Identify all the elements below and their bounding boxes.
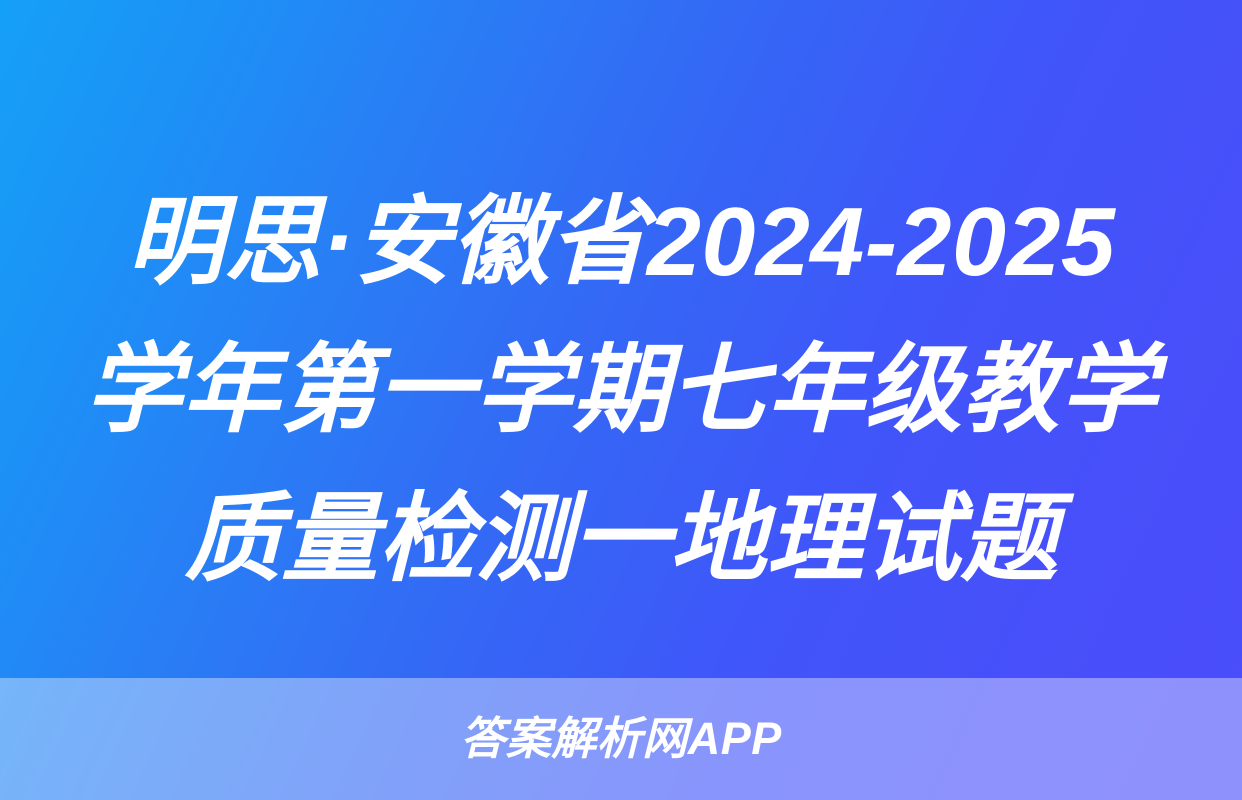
title-block: 明思·安徽省2024-2025 学年第一学期七年级教学 质量检测一地理试题 (0, 168, 1242, 613)
title-line-1: 明思·安徽省2024-2025 (60, 168, 1182, 316)
exam-cover-card: 明思·安徽省2024-2025 学年第一学期七年级教学 质量检测一地理试题 答案… (0, 0, 1242, 800)
app-watermark-label: 答案解析网APP (460, 716, 782, 761)
footer-watermark-band: 答案解析网APP (0, 678, 1242, 800)
title-line-3: 质量检测一地理试题 (60, 465, 1182, 613)
title-line-2: 学年第一学期七年级教学 (60, 316, 1182, 464)
